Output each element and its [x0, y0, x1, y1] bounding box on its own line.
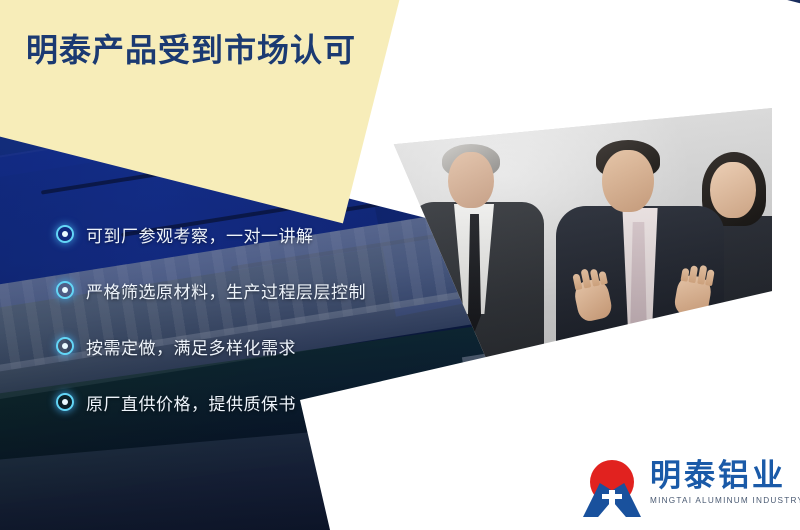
target-ring-icon: [56, 393, 74, 411]
logo-name-en: MINGTAI ALUMINUM INDUSTRY CO., LTD: [650, 496, 800, 505]
page-title: 明泰产品受到市场认可: [26, 25, 356, 71]
target-ring-icon: [56, 337, 74, 355]
mingtai-sun-mountain-icon: [583, 459, 641, 517]
anchor-icon: [609, 490, 615, 512]
target-ring-icon: [56, 281, 74, 299]
list-item: 按需定做，满足多样化需求: [56, 318, 396, 374]
feature-text: 原厂直供价格，提供质保书: [86, 390, 296, 415]
feature-text: 严格筛选原材料，生产过程层层控制: [86, 278, 366, 303]
logo-name-cn: 明泰铝业: [650, 460, 800, 493]
feature-text: 可到厂参观考察，一对一讲解: [86, 222, 314, 247]
list-item: 严格筛选原材料，生产过程层层控制: [56, 262, 396, 318]
list-item: 可到厂参观考察，一对一讲解: [56, 206, 396, 262]
target-ring-icon: [56, 225, 74, 243]
feature-text: 按需定做，满足多样化需求: [86, 334, 296, 359]
logo-wordmark: 明泰铝业 MINGTAI ALUMINUM INDUSTRY CO., LTD: [650, 459, 800, 505]
promo-banner: 明泰产品受到市场认可 可到厂参观考察，一对一讲解 严格筛选原材料，生产过程层层控…: [0, 0, 800, 530]
company-logo: 明泰铝业 MINGTAI ALUMINUM INDUSTRY CO., LTD: [583, 459, 800, 517]
